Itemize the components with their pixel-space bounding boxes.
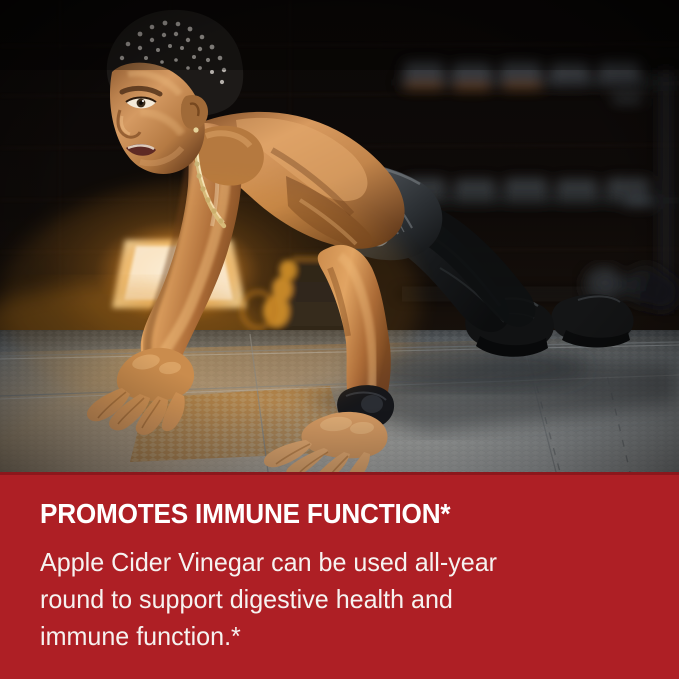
banner-top-rule [0,472,679,475]
banner-body-line-1: Apple Cider Vinegar can be used all-year [40,544,580,581]
banner-body-line-3: immune function.* [40,618,580,655]
banner-headline: PROMOTES IMMUNE FUNCTION* [40,500,610,529]
red-claim-banner: PROMOTES IMMUNE FUNCTION* Apple Cider Vi… [0,472,679,679]
gym-push-up-photo [0,0,679,472]
banner-body-line-2: round to support digestive health and [40,581,580,618]
gym-photo-illustration [0,0,679,472]
banner-body-copy: Apple Cider Vinegar can be used all-year… [40,544,580,655]
product-feature-card: PROMOTES IMMUNE FUNCTION* Apple Cider Vi… [0,0,679,679]
